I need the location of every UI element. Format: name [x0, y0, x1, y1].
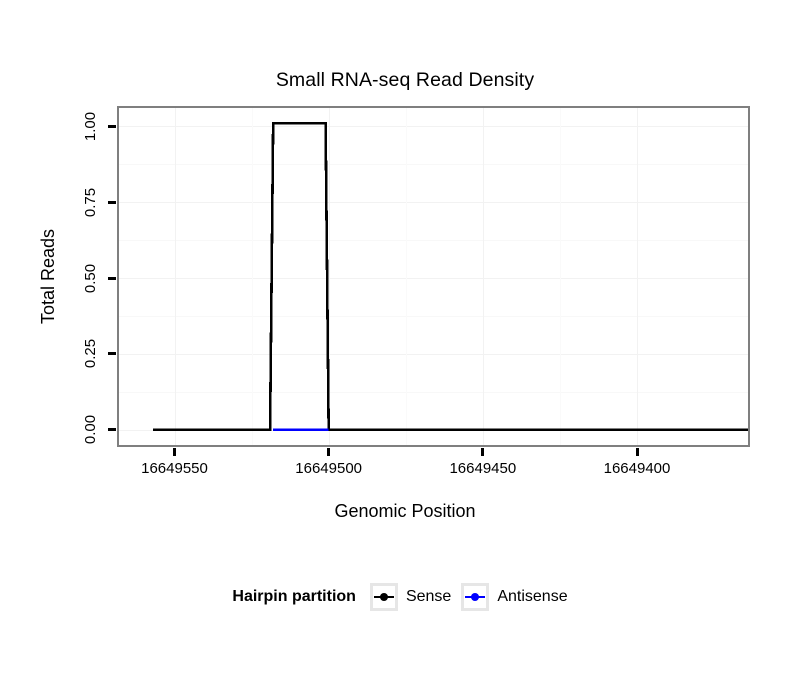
y-tick-label: 0.25: [82, 339, 99, 368]
series-line-sense: [153, 123, 748, 430]
x-tick-mark: [636, 448, 639, 456]
line-dot-icon: [370, 583, 398, 611]
y-tick-label: 0.50: [82, 263, 99, 292]
line-dot-icon: [461, 583, 489, 611]
plot-panel-inner: [119, 108, 748, 445]
chart-legend: Hairpin partition SenseAntisense: [0, 583, 810, 611]
y-axis-title: Total Reads: [39, 228, 60, 323]
y-tick-label-wrap: 0.25: [71, 334, 111, 374]
legend-label: Antisense: [497, 588, 567, 606]
page-title: Small RNA-seq Read Density: [0, 69, 810, 91]
legend-title: Hairpin partition: [232, 588, 356, 606]
legend-key-dot: [471, 593, 479, 601]
x-tick-label: 16649500: [295, 460, 362, 477]
x-tick-mark: [327, 448, 330, 456]
plot-panel: [117, 106, 750, 447]
y-tick-label: 0.00: [82, 415, 99, 444]
y-tick-label-wrap: 0.75: [71, 182, 111, 222]
data-layer: [119, 108, 748, 445]
x-tick-label: 16649450: [449, 460, 516, 477]
legend-item-antisense[interactable]: Antisense: [461, 583, 567, 611]
chart-figure: Small RNA-seq Read Density Total Reads 0…: [0, 0, 810, 690]
y-tick-label-wrap: 0.00: [71, 410, 111, 450]
y-tick-label: 1.00: [82, 112, 99, 141]
x-tick-mark: [173, 448, 176, 456]
y-tick-label-wrap: 1.00: [71, 106, 111, 146]
legend-item-sense[interactable]: Sense: [370, 583, 451, 611]
x-axis-title: Genomic Position: [0, 501, 810, 522]
x-tick-label: 16649550: [141, 460, 208, 477]
y-tick-label-wrap: 0.50: [71, 258, 111, 298]
y-tick-label: 0.75: [82, 188, 99, 217]
legend-label: Sense: [406, 588, 451, 606]
x-tick-mark: [481, 448, 484, 456]
legend-items: SenseAntisense: [370, 583, 578, 611]
x-tick-label: 16649400: [604, 460, 671, 477]
legend-key-dot: [380, 593, 388, 601]
